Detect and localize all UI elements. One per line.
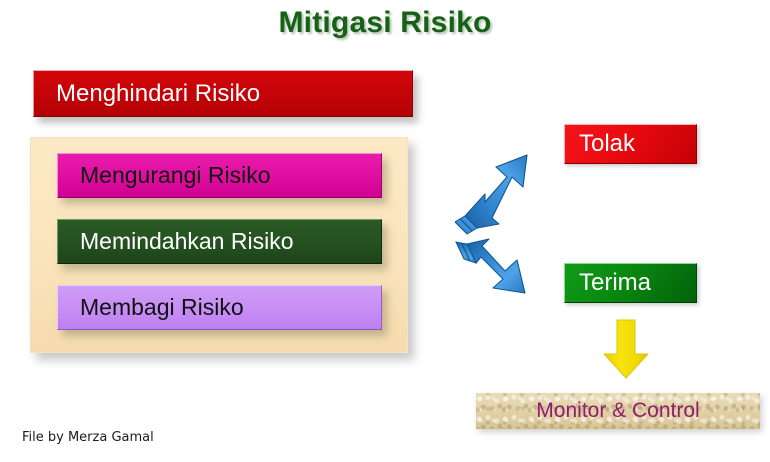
footer-credit: File by Merza Gamal <box>22 430 154 445</box>
share-risk-label: Membagi Risiko <box>58 296 244 319</box>
share-risk-box[interactable]: Membagi Risiko <box>57 285 382 330</box>
flow-arrow-down <box>600 318 652 380</box>
yellow-arrow-down-icon <box>600 318 652 380</box>
reduce-risk-box[interactable]: Mengurangi Risiko <box>57 153 382 198</box>
avoid-risk-label: Menghindari Risiko <box>34 82 260 106</box>
monitor-control-box[interactable]: Monitor & Control <box>476 393 760 429</box>
slide-canvas: Mitigasi Risiko Menghindari Risiko Mengu… <box>0 0 770 462</box>
reduce-risk-label: Mengurangi Risiko <box>58 164 270 187</box>
branching-arrows-svg <box>455 148 570 318</box>
blue-arrow-down-right-icon <box>456 239 525 293</box>
monitor-control-label: Monitor & Control <box>536 399 699 423</box>
blue-arrow-up-right-icon <box>455 155 527 234</box>
avoid-risk-box[interactable]: Menghindari Risiko <box>33 70 413 117</box>
reject-box[interactable]: Tolak <box>564 124 697 164</box>
page-title: Mitigasi Risiko <box>0 6 770 40</box>
transfer-risk-box[interactable]: Memindahkan Risiko <box>57 219 382 264</box>
accept-box[interactable]: Terima <box>564 263 697 303</box>
accept-label: Terima <box>565 271 651 295</box>
branching-arrows-group <box>455 148 570 318</box>
reject-label: Tolak <box>565 132 635 156</box>
transfer-risk-label: Memindahkan Risiko <box>58 230 293 253</box>
